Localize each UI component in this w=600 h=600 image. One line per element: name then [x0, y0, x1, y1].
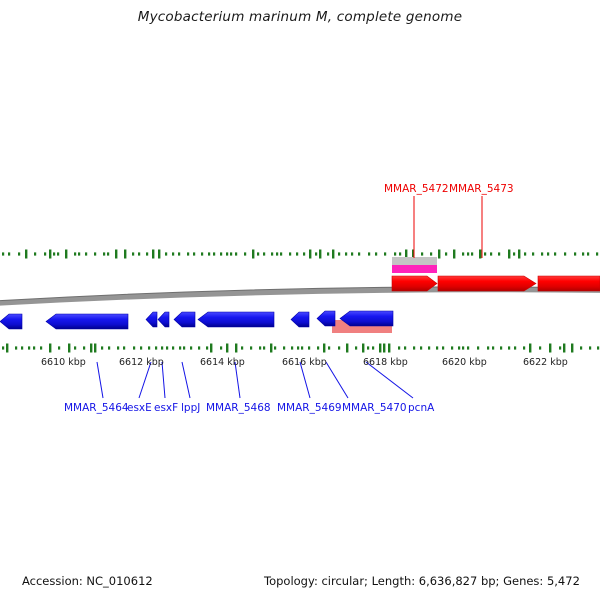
gene-density-tick [8, 252, 10, 255]
gene-density-tick [532, 252, 534, 255]
gene-density-tick [442, 346, 444, 349]
gene-density-tick [523, 346, 525, 349]
gene-density-tick [208, 252, 210, 255]
gene-density-tick [172, 346, 174, 349]
gene-density-tick [428, 346, 430, 349]
gene-density-tick [467, 252, 469, 255]
gene-density-tick [514, 346, 516, 349]
gene-label-MMAR_5469[interactable]: MMAR_5469 [277, 402, 342, 414]
gene-density-tick [235, 344, 237, 353]
gene-density-tick [58, 346, 60, 349]
gene-density-tick [83, 346, 85, 349]
gene-density-tick [2, 346, 4, 349]
forward-label-leader-lines [414, 196, 482, 258]
gene-density-tick [65, 250, 67, 259]
gene-density-tick [484, 252, 486, 255]
gene-density-tick [49, 250, 51, 259]
gene-density-tick [430, 252, 432, 255]
ruler-label: 6614 kbp [200, 357, 245, 368]
gene-density-tick [138, 252, 140, 255]
gene-label-pcnA[interactable]: pcnA [408, 402, 434, 414]
gene-density-tick [132, 252, 134, 255]
gene-density-tick [6, 344, 8, 353]
gene-density-tick [283, 346, 285, 349]
gene-density-tick [587, 252, 589, 255]
gene-density-tick [161, 346, 163, 349]
gene-density-tick [383, 344, 385, 353]
gene-density-tick [597, 346, 599, 349]
gene-density-tick [94, 344, 96, 353]
gene-density-tick [220, 252, 222, 255]
gene-density-tick [445, 252, 447, 255]
gene-density-tick [559, 346, 561, 349]
forward-strand-features[interactable] [392, 276, 600, 291]
gene-density-tick [471, 252, 473, 255]
gene-density-tick [467, 346, 469, 349]
gene-density-tick [40, 346, 42, 349]
gene-density-tick [388, 344, 390, 353]
gene-density-tick [462, 252, 464, 255]
gene-density-tick [220, 346, 222, 349]
gene-density-tick [547, 252, 549, 255]
gene-density-tick [250, 346, 252, 349]
gene-density-tick [479, 250, 481, 259]
gene-density-tick [564, 252, 566, 255]
gene-density-tick [68, 344, 70, 353]
gene-density-tick [115, 250, 117, 259]
gene-density-tick [513, 252, 515, 255]
gene-density-tick [580, 346, 582, 349]
gene-density-tick [571, 344, 573, 353]
feature-esxF[interactable] [158, 312, 169, 327]
gene-density-tick [28, 346, 30, 349]
gene-density-tick [193, 252, 195, 255]
gene-density-tick [384, 252, 386, 255]
gene-density-tick [398, 346, 400, 349]
feature-forward[interactable] [538, 276, 600, 291]
gene-density-tick [421, 252, 423, 255]
selection-gray [392, 257, 437, 265]
gene-density-tick [158, 250, 160, 259]
gene-density-tick [596, 252, 598, 255]
tick-row-lower [2, 344, 599, 353]
gene-density-tick [257, 252, 259, 255]
gene-density-tick [438, 250, 440, 259]
gene-density-tick [458, 346, 460, 349]
gene-density-tick [25, 250, 27, 259]
gene-label-esxF[interactable]: esxF [154, 402, 178, 414]
gene-density-tick [296, 252, 298, 255]
gene-density-tick [155, 346, 157, 349]
gene-density-tick [362, 344, 364, 353]
gene-density-tick [451, 346, 453, 349]
gene-density-tick [436, 346, 438, 349]
gene-density-tick [34, 252, 36, 255]
gene-density-tick [413, 346, 415, 349]
gene-density-tick [490, 252, 492, 255]
gene-density-tick [165, 252, 167, 255]
gene-density-tick [90, 344, 92, 353]
gene-label-MMAR_5468[interactable]: MMAR_5468 [206, 402, 271, 414]
gene-density-tick [315, 252, 317, 255]
gene-density-tick [252, 250, 254, 259]
gene-density-tick [53, 252, 55, 255]
gene-density-tick [346, 344, 348, 353]
gene-density-tick [74, 346, 76, 349]
gene-density-tick [133, 346, 135, 349]
gene-density-tick [15, 346, 17, 349]
gene-density-tick [345, 252, 347, 255]
gene-density-tick [172, 252, 174, 255]
gene-density-tick [263, 252, 265, 255]
gene-density-tick [574, 252, 576, 255]
gene-density-tick [94, 252, 96, 255]
gene-density-tick [508, 346, 510, 349]
gene-density-tick [190, 346, 192, 349]
gene-density-tick [101, 346, 103, 349]
gene-density-tick [319, 250, 321, 259]
gene-density-tick [241, 346, 243, 349]
gene-density-tick [49, 344, 51, 353]
gene-density-tick [323, 344, 325, 353]
gene-density-tick [582, 252, 584, 255]
gene-density-tick [21, 346, 23, 349]
gene-density-tick [338, 252, 340, 255]
gene-density-tick [327, 252, 329, 255]
reverse-strand-features[interactable] [0, 311, 393, 329]
gene-density-tick [152, 250, 154, 259]
feature-lppJ[interactable] [174, 312, 195, 327]
gene-density-tick [291, 346, 293, 349]
gene-density-tick [271, 252, 273, 255]
gene-density-tick [274, 346, 276, 349]
gene-density-tick [44, 252, 46, 255]
gene-density-tick [492, 346, 494, 349]
gene-density-tick [178, 252, 180, 255]
gene-density-tick [420, 346, 422, 349]
gene-density-tick [368, 252, 370, 255]
gene-density-tick [123, 346, 125, 349]
feature-esxE[interactable] [146, 312, 157, 327]
gene-density-tick [301, 346, 303, 349]
gene-density-tick [563, 344, 565, 353]
gene-density-tick [394, 252, 396, 255]
feature-reverse[interactable] [0, 314, 22, 329]
gene-label-MMAR_5470[interactable]: MMAR_5470 [342, 402, 407, 414]
gene-density-tick [103, 252, 105, 255]
gene-label-lppJ[interactable]: lppJ [181, 402, 200, 414]
gene-density-tick [289, 252, 291, 255]
gene-density-tick [297, 346, 299, 349]
gene-density-tick [78, 252, 80, 255]
gene-density-tick [508, 250, 510, 259]
gene-density-tick [308, 346, 310, 349]
gene-density-tick [462, 346, 464, 349]
gene-density-tick [351, 252, 353, 255]
gene-density-tick [230, 252, 232, 255]
gene-density-tick [201, 252, 203, 255]
ruler-label: 6622 kbp [523, 357, 568, 368]
gene-density-tick [140, 346, 142, 349]
gene-density-tick [166, 346, 168, 349]
gene-density-tick [213, 252, 215, 255]
feature-MMAR_5473[interactable] [438, 276, 536, 291]
feature-MMAR_5468[interactable] [198, 312, 274, 327]
gene-density-tick [18, 252, 20, 255]
gene-density-tick [57, 252, 59, 255]
gene-density-tick [367, 346, 369, 349]
gene-density-tick [183, 346, 185, 349]
ruler-label: 6618 kbp [363, 357, 408, 368]
gene-density-tick [198, 346, 200, 349]
gene-density-tick [263, 346, 265, 349]
genome-viewer: Mycobacterium marinum M, complete genome… [0, 0, 600, 600]
gene-density-tick [529, 344, 531, 353]
gene-density-tick [539, 346, 541, 349]
gene-label-MMAR_5473[interactable]: MMAR_5473 [449, 183, 514, 195]
gene-density-tick [379, 344, 381, 353]
gene-label-MMAR_5472[interactable]: MMAR_5472 [384, 183, 449, 195]
gene-label-MMAR_5464[interactable]: MMAR_5464 [64, 402, 129, 414]
gene-density-tick [358, 252, 360, 255]
feature-MMAR_5470[interactable] [317, 311, 335, 326]
gene-density-tick [235, 252, 237, 255]
gene-density-tick [589, 346, 591, 349]
accession-text: Accession: NC_010612 [22, 574, 153, 588]
gene-density-tick [453, 250, 455, 259]
gene-density-tick [399, 252, 401, 255]
gene-density-tick [2, 252, 4, 255]
ruler-label: 6610 kbp [41, 357, 86, 368]
gene-density-tick [404, 346, 406, 349]
gene-density-tick [85, 252, 87, 255]
gene-label-esxE[interactable]: esxE [127, 402, 152, 414]
gene-density-tick [276, 252, 278, 255]
gene-density-tick [226, 344, 228, 353]
ruler-label: 6616 kbp [282, 357, 327, 368]
gene-density-tick [74, 252, 76, 255]
leader-line-MMAR_5464 [97, 362, 103, 398]
gene-density-tick [500, 346, 502, 349]
gene-density-tick [210, 344, 212, 353]
gene-density-tick [206, 346, 208, 349]
gene-density-tick [372, 346, 374, 349]
gene-density-tick [518, 250, 520, 259]
gene-density-tick [317, 346, 319, 349]
gene-density-tick [280, 252, 282, 255]
gene-density-tick [498, 252, 500, 255]
gene-density-tick [338, 346, 340, 349]
feature-MMAR_5469[interactable] [291, 312, 309, 327]
feature-MMAR_5472[interactable] [392, 276, 437, 291]
gene-density-tick [117, 346, 119, 349]
gene-density-tick [124, 250, 126, 259]
gene-density-tick [524, 252, 526, 255]
gene-density-tick [554, 252, 556, 255]
gene-density-tick [303, 252, 305, 255]
gene-density-tick [244, 252, 246, 255]
gene-density-tick [187, 252, 189, 255]
selection-magenta [392, 265, 437, 273]
tick-row-upper [2, 250, 598, 259]
gene-density-tick [487, 346, 489, 349]
gene-density-tick [179, 346, 181, 349]
gene-density-tick [477, 346, 479, 349]
gene-density-tick [332, 250, 334, 259]
gene-density-tick [148, 346, 150, 349]
genome-map-canvas[interactable] [0, 0, 600, 600]
gene-density-tick [355, 346, 357, 349]
feature-pcnA[interactable] [340, 311, 393, 326]
gene-density-tick [259, 346, 261, 349]
gene-density-tick [33, 346, 35, 349]
gene-density-tick [375, 252, 377, 255]
genome-summary-text: Topology: circular; Length: 6,636,827 bp… [264, 574, 580, 588]
feature-MMAR_5464[interactable] [46, 314, 128, 329]
gene-density-tick [108, 346, 110, 349]
gene-density-tick [328, 346, 330, 349]
gene-density-tick [226, 252, 228, 255]
gene-density-tick [107, 252, 109, 255]
ruler-label: 6612 kbp [119, 357, 164, 368]
gene-density-tick [541, 252, 543, 255]
ruler-label: 6620 kbp [442, 357, 487, 368]
gene-density-tick [309, 250, 311, 259]
gene-density-tick [549, 344, 551, 353]
gene-density-tick [270, 344, 272, 353]
leader-line-MMAR_5470 [326, 362, 348, 398]
leader-line-lppJ [182, 362, 190, 398]
gene-density-tick [146, 252, 148, 255]
